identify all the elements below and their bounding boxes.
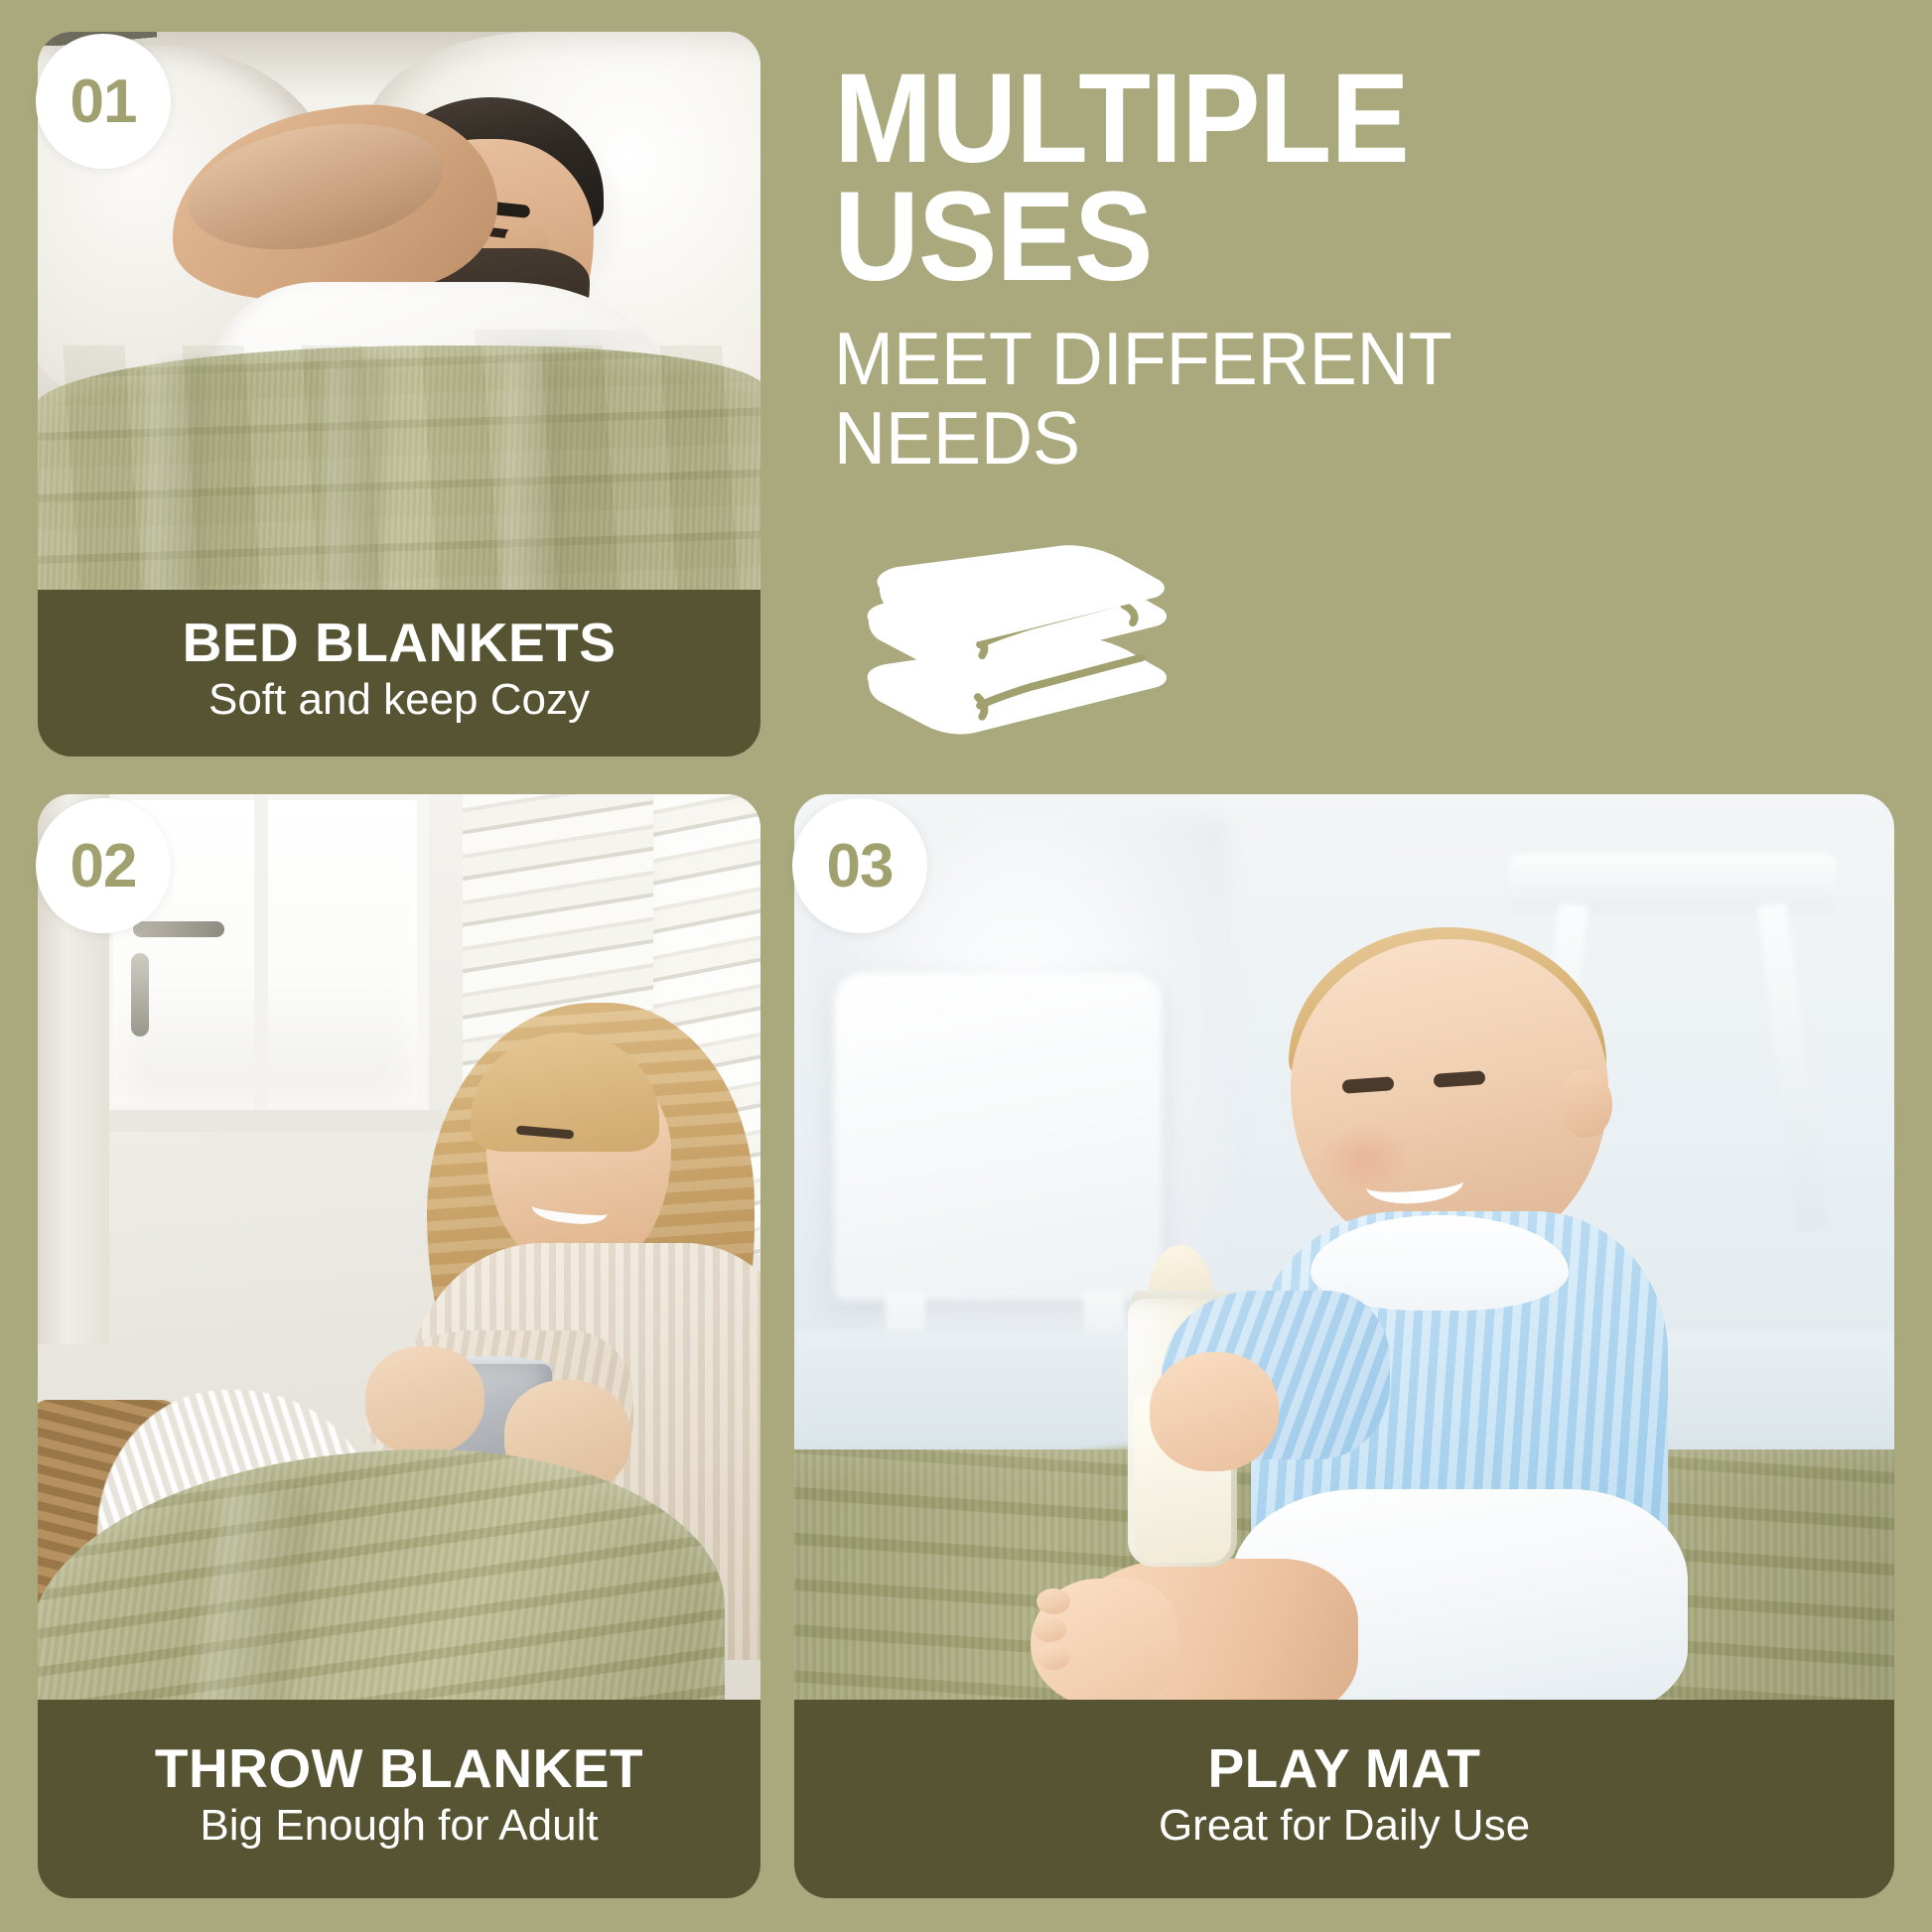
step-badge-01: 01 bbox=[36, 34, 171, 169]
card-label-bar: THROW BLANKET Big Enough for Adult bbox=[38, 1700, 760, 1898]
headline-line-2: USES bbox=[834, 178, 1813, 296]
card-subtitle: Big Enough for Adult bbox=[38, 1800, 760, 1852]
step-badge-03: 03 bbox=[792, 798, 927, 933]
card-title: BED BLANKETS bbox=[38, 615, 760, 670]
infographic-canvas: BED BLANKETS Soft and keep Cozy 01 bbox=[0, 0, 1932, 1932]
card-subtitle: Soft and keep Cozy bbox=[38, 674, 760, 726]
card-label-bar: BED BLANKETS Soft and keep Cozy bbox=[38, 590, 760, 757]
card-title: PLAY MAT bbox=[794, 1740, 1894, 1796]
headline-line-1: MULTIPLE bbox=[834, 60, 1813, 178]
subhead-line-1: MEET DIFFERENT bbox=[834, 320, 1845, 399]
subhead-line-2: NEEDS bbox=[834, 399, 1845, 479]
header-panel: MULTIPLE USES MEET DIFFERENT NEEDS bbox=[834, 60, 1886, 755]
card-label-bar: PLAY MAT Great for Daily Use bbox=[794, 1700, 1894, 1898]
feature-card-throw-blanket[interactable]: THROW BLANKET Big Enough for Adult bbox=[38, 794, 760, 1898]
card-title: THROW BLANKET bbox=[38, 1740, 760, 1796]
step-badge-02: 02 bbox=[36, 798, 171, 933]
card-subtitle: Great for Daily Use bbox=[794, 1800, 1894, 1852]
feature-card-play-mat[interactable]: PLAY MAT Great for Daily Use bbox=[794, 794, 1894, 1898]
folded-blankets-icon bbox=[844, 544, 1181, 762]
